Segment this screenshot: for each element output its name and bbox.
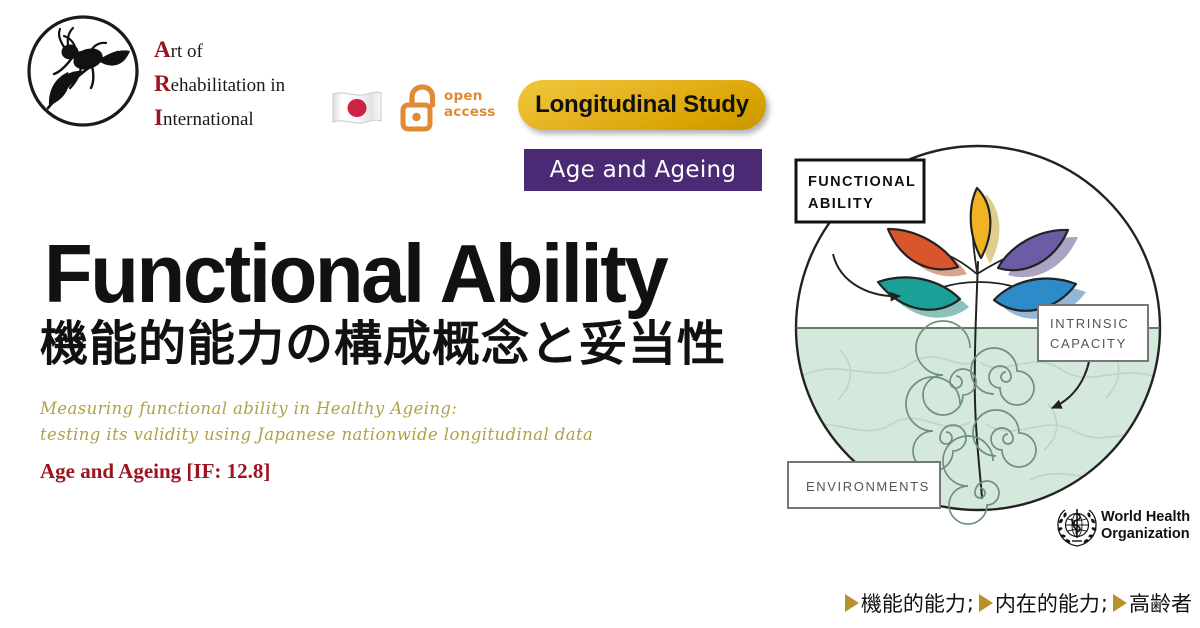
keyword-label-2: 内在的能力 xyxy=(995,588,1100,618)
brand-word-art: rt of xyxy=(171,41,203,62)
who-logo: World Health Organization xyxy=(1055,505,1195,549)
open-access-label: open access xyxy=(444,88,496,120)
who-healthy-ageing-diagram: FUNCTIONAL ABILITY INTRINSIC CAPACITY EN… xyxy=(780,132,1180,532)
japan-flag-icon xyxy=(330,88,384,128)
study-type-label: Longitudinal Study xyxy=(535,91,749,119)
keyword-separator-1: ; xyxy=(967,591,974,615)
study-type-badge[interactable]: Longitudinal Study xyxy=(518,80,766,130)
brand-name-line-2: Rehabilitation in xyxy=(154,68,334,102)
keyword-label-1: 機能的能力 xyxy=(861,588,966,618)
keyword-item-1: 機能的能力 xyxy=(845,588,966,618)
paper-subtitle-line-2: testing its validity using Japanese nati… xyxy=(40,422,680,448)
keyword-separator-2: ; xyxy=(1101,591,1108,615)
keyword-list: 機能的能力 ; 内在的能力 ; 高齢者 xyxy=(778,588,1192,618)
open-access-line-1: open xyxy=(444,88,496,104)
who-name-line-1: World Health xyxy=(1101,509,1190,526)
diagram-label-functional-ability-line1: FUNCTIONAL xyxy=(808,174,916,190)
open-access-badge: open access xyxy=(400,82,500,134)
brand-name: Art of Rehabilitation in International xyxy=(154,34,334,136)
brand-initial-r: R xyxy=(154,71,171,96)
journal-badge-label: Age and Ageing xyxy=(550,157,737,183)
brand-name-line-1: Art of xyxy=(154,34,334,68)
page-title-english: Functional Ability xyxy=(44,232,666,315)
brand-initial-a: A xyxy=(154,37,171,62)
diagram-label-intrinsic-capacity-line1: INTRINSIC xyxy=(1050,316,1129,331)
poster-canvas: Art of Rehabilitation in International xyxy=(0,0,1200,628)
open-access-line-2: access xyxy=(444,104,496,120)
keyword-label-3: 高齢者 xyxy=(1129,588,1192,618)
diagram-label-functional-ability-line2: ABILITY xyxy=(808,196,874,212)
page-title-japanese: 機能的能力の構成概念と妥当性 xyxy=(40,318,726,371)
brand-word-rehabilitation: ehabilitation in xyxy=(171,75,286,96)
keyword-item-2: 内在的能力 xyxy=(979,588,1100,618)
brand-word-international: nternational xyxy=(163,109,254,130)
brand-initial-i: I xyxy=(154,105,163,130)
journal-badge[interactable]: Age and Ageing xyxy=(524,149,762,191)
triangle-bullet-icon xyxy=(845,594,859,612)
who-name-line-2: Organization xyxy=(1101,526,1190,543)
open-access-lock-icon xyxy=(400,84,442,132)
journal-impact-line: Age and Ageing [IF: 12.8] xyxy=(40,459,270,484)
keyword-item-3: 高齢者 xyxy=(1113,588,1192,618)
triangle-bullet-icon xyxy=(979,594,993,612)
diagram-label-intrinsic-capacity-line2: CAPACITY xyxy=(1050,336,1127,351)
ant-on-branch-logo xyxy=(24,12,142,130)
paper-subtitle-line-1: Measuring functional ability in Healthy … xyxy=(40,396,680,422)
paper-subtitle: Measuring functional ability in Healthy … xyxy=(40,396,680,448)
diagram-label-environments: ENVIRONMENTS xyxy=(806,479,930,494)
who-emblem-icon xyxy=(1055,505,1099,549)
who-name: World Health Organization xyxy=(1101,509,1190,543)
brand-name-line-3: International xyxy=(154,102,334,136)
triangle-bullet-icon xyxy=(1113,594,1127,612)
